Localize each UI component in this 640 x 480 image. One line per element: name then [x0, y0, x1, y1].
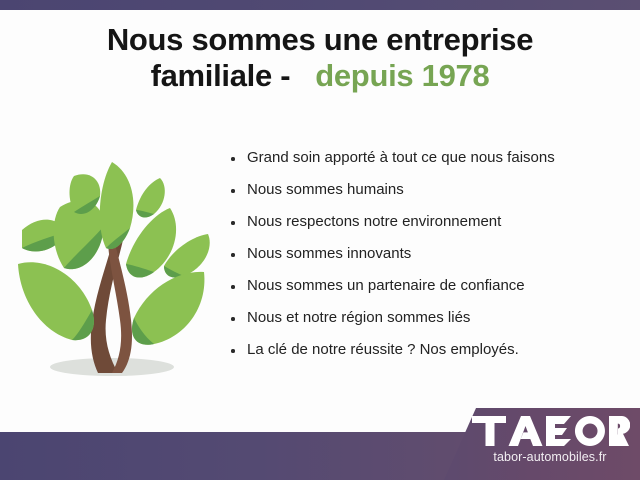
page-title-accent: depuis 1978 — [315, 58, 489, 93]
bullet-icon — [231, 317, 235, 321]
list-item-label: La clé de notre réussite ? Nos employés. — [247, 341, 519, 358]
bullet-icon — [231, 221, 235, 225]
list-item-label: Nous sommes innovants — [247, 245, 411, 262]
slide-canvas: Nous sommes une entreprise familiale - d… — [0, 0, 640, 480]
top-accent-bar — [0, 0, 640, 10]
bullet-icon — [231, 349, 235, 353]
leaf-top-small-right — [136, 178, 165, 217]
list-item-label: Grand soin apporté à tout ce que nous fa… — [247, 149, 555, 166]
list-item-label: Nous et notre région sommes liés — [247, 309, 470, 326]
leaf-center-top — [100, 162, 134, 249]
list-item: Nous respectons notre environnement — [228, 214, 628, 231]
leaf-lower-right — [132, 272, 204, 345]
list-item: Nous sommes innovants — [228, 246, 628, 263]
tabor-wordmark — [470, 414, 630, 448]
list-item: La clé de notre réussite ? Nos employés. — [228, 342, 628, 359]
bullet-icon — [231, 285, 235, 289]
page-title-line-1: Nous sommes une entreprise — [0, 22, 640, 58]
page-title-line-2: familiale - depuis 1978 — [0, 58, 640, 94]
tree-illustration — [8, 152, 220, 390]
list-item-label: Nous sommes humains — [247, 181, 404, 198]
page-title-line-2-plain: familiale - — [151, 58, 291, 93]
list-item: Nous sommes humains — [228, 182, 628, 199]
list-item-label: Nous respectons notre environnement — [247, 213, 501, 230]
list-item-label: Nous sommes un partenaire de confiance — [247, 277, 525, 294]
leaf-lower-left — [18, 262, 94, 340]
page-title: Nous sommes une entreprise familiale - d… — [0, 22, 640, 94]
bullet-icon — [231, 157, 235, 161]
bullet-icon — [231, 189, 235, 193]
bullet-icon — [231, 253, 235, 257]
list-item: Grand soin apporté à tout ce que nous fa… — [228, 150, 628, 167]
brand-tagline: tabor-automobiles.fr — [470, 450, 630, 464]
brand-logo[interactable]: tabor-automobiles.fr — [470, 414, 630, 474]
list-item: Nous et notre région sommes liés — [228, 310, 628, 327]
list-item: Nous sommes un partenaire de confiance — [228, 278, 628, 295]
benefits-list: Grand soin apporté à tout ce que nous fa… — [228, 150, 628, 374]
